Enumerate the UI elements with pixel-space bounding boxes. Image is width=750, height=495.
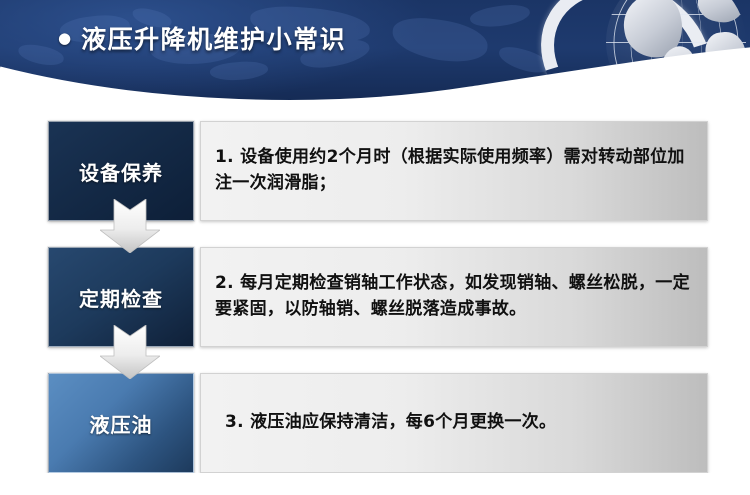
description-panel-1: 1. 设备使用约2个月时（根据实际使用频率）需对转动部位加注一次润滑脂； [200,121,708,221]
slide-canvas: ● 液压升降机维护小常识 设备保养 1. 设备使用约2个月时（根据实际使用频率）… [0,0,750,495]
description-text: 3. 液压油应保持清洁，每6个月更换一次。 [215,410,556,436]
description-panel-2: 2. 每月定期检查销轴工作状态，如发现销轴、螺丝松脱，一定要紧固，以防轴销、螺丝… [200,247,708,347]
category-label: 液压油 [90,409,153,438]
description-text: 1. 设备使用约2个月时（根据实际使用频率）需对转动部位加注一次润滑脂； [215,145,693,197]
footer-spacer [0,473,750,495]
category-label: 设备保养 [79,157,163,186]
category-label: 定期检查 [79,283,163,312]
description-panel-3: 3. 液压油应保持清洁，每6个月更换一次。 [200,373,708,473]
content-rows: 设备保养 1. 设备使用约2个月时（根据实际使用频率）需对转动部位加注一次润滑脂… [0,0,750,495]
description-text: 2. 每月定期检查销轴工作状态，如发现销轴、螺丝松脱，一定要紧固，以防轴销、螺丝… [215,271,693,323]
down-arrow-icon [100,199,160,253]
category-box-hydraulic-oil[interactable]: 液压油 [48,373,194,473]
maintenance-row: 液压油 3. 液压油应保持清洁，每6个月更换一次。 [0,373,750,473]
down-arrow-icon [100,325,160,379]
